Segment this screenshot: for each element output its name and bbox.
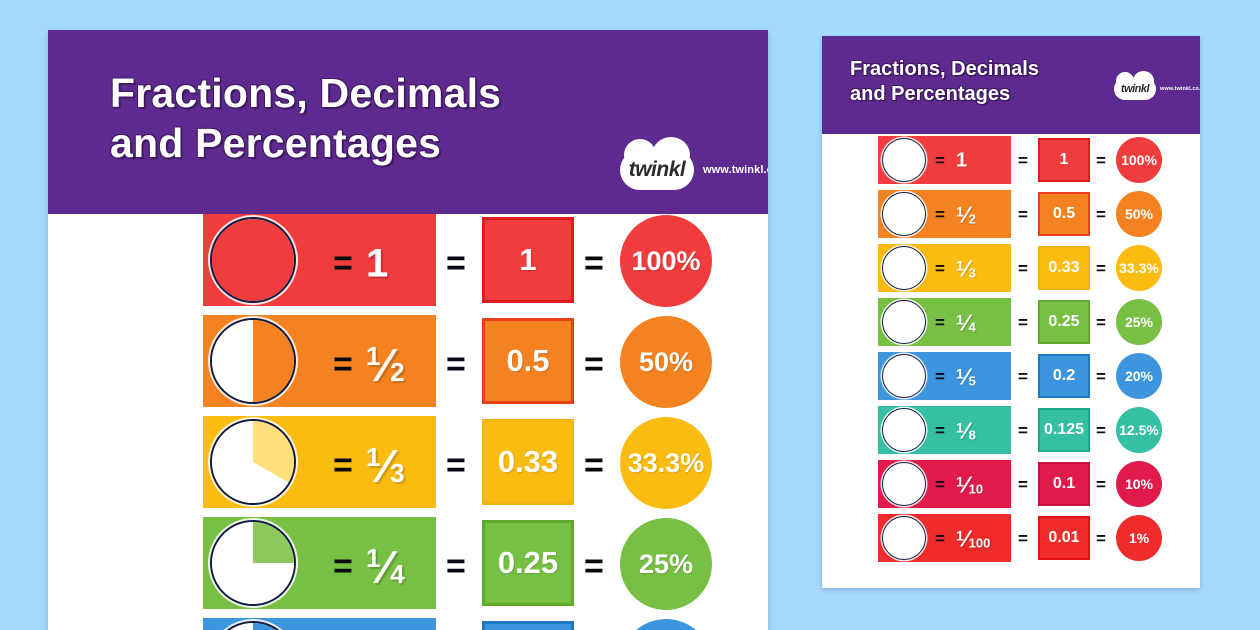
fraction-value: 1⁄4 <box>366 540 405 594</box>
equals-sign: = <box>1018 367 1028 387</box>
equals-sign: = <box>935 205 945 225</box>
pie-chart-icon <box>882 246 926 290</box>
decimal-box: 0.2 <box>1038 354 1090 398</box>
fraction-value: 1⁄3 <box>956 256 976 283</box>
equals-sign: = <box>1018 529 1028 549</box>
fraction-denominator: 3 <box>969 266 976 281</box>
fraction-slash-icon: ⁄ <box>964 418 968 445</box>
equals-sign: = <box>584 245 604 284</box>
fraction-slash-icon: ⁄ <box>381 540 389 594</box>
pie-chart-icon <box>210 621 296 630</box>
pie-slice <box>212 623 294 630</box>
pie-chart-icon <box>210 520 296 606</box>
thumbnail-rows: =1=1=100%=1⁄2=0.5=50%=1⁄3=0.33=33.3%=1⁄4… <box>822 134 1200 588</box>
equals-sign: = <box>1096 367 1106 387</box>
fraction-numerator: 1 <box>366 442 380 473</box>
fraction-numerator: 1 <box>956 258 964 274</box>
fraction-value: 1⁄2 <box>366 338 405 392</box>
poster-header: Fractions, Decimals and Percentages twin… <box>48 30 768 214</box>
fraction-value: 1 <box>366 242 388 287</box>
equals-sign: = <box>935 367 945 387</box>
thumbnail-table-row: =1⁄4=0.25=25% <box>822 296 1200 350</box>
decimal-box: 0.01 <box>1038 516 1090 560</box>
thumbnail-table-row: =1⁄3=0.33=33.3% <box>822 242 1200 296</box>
fraction-slash-icon: ⁄ <box>964 202 968 229</box>
percentage-circle: 1% <box>1116 515 1162 561</box>
equals-sign: = <box>446 548 466 587</box>
percentage-circle: 20% <box>620 619 712 630</box>
fraction-value: 1⁄100 <box>956 526 990 553</box>
fraction-numerator: 1 <box>956 474 964 490</box>
thumbnail-table-row: =1⁄10=0.1=10% <box>822 458 1200 512</box>
decimal-box: 0.1 <box>1038 462 1090 506</box>
cloud-icon: twinkl <box>620 150 694 190</box>
fraction-numerator: 1 <box>956 528 964 544</box>
table-row: =1⁄3=0.33=33.3% <box>48 416 768 516</box>
fraction-value: 1⁄10 <box>956 472 983 499</box>
fraction-denominator: 2 <box>969 212 976 227</box>
pie-bar <box>203 618 436 630</box>
percentage-circle: 50% <box>620 316 712 408</box>
percentage-circle: 100% <box>620 215 712 307</box>
equals-sign: = <box>1018 313 1028 333</box>
equals-sign: = <box>935 259 945 279</box>
main-poster: Fractions, Decimals and Percentages twin… <box>48 30 768 630</box>
pie-slice <box>212 421 294 503</box>
fraction-denominator: 2 <box>390 357 404 388</box>
thumbnail-table-row: =1=1=100% <box>822 134 1200 188</box>
fraction-value: 1⁄3 <box>366 439 405 493</box>
percentage-circle: 33.3% <box>1116 245 1162 291</box>
fraction-value: 1⁄5 <box>956 364 976 391</box>
equals-sign: = <box>584 548 604 587</box>
equals-sign: = <box>333 346 353 385</box>
thumbnail-table-row: =1⁄2=0.5=50% <box>822 188 1200 242</box>
twinkl-logo-thumbnail: twinkl www.twinkl.co.uk <box>1114 78 1200 100</box>
logo-brand-text: twinkl <box>1121 83 1149 95</box>
fraction-numerator: 1 <box>366 341 380 372</box>
fraction-slash-icon: ⁄ <box>964 526 968 553</box>
equals-sign: = <box>1018 151 1028 171</box>
equals-sign: = <box>333 548 353 587</box>
percentage-circle: 50% <box>1116 191 1162 237</box>
fraction-slash-icon: ⁄ <box>964 364 968 391</box>
fraction-numerator: 1 <box>366 543 380 574</box>
thumbnail-title: Fractions, Decimals and Percentages <box>850 57 1100 107</box>
percentage-circle: 33.3% <box>620 417 712 509</box>
pie-chart-icon <box>882 300 926 344</box>
fraction-denominator: 4 <box>390 559 404 590</box>
percentage-circle: 25% <box>1116 299 1162 345</box>
fraction-value: 1⁄4 <box>956 310 976 337</box>
poster-rows: =1=1=100%=1⁄2=0.5=50%=1⁄3=0.33=33.3%=1⁄4… <box>48 214 768 630</box>
equals-sign: = <box>935 421 945 441</box>
logo-url-text: www.twinkl.co.uk <box>703 164 768 176</box>
table-row: =1⁄2=0.5=50% <box>48 315 768 415</box>
logo-brand-text: twinkl <box>629 158 686 182</box>
percentage-circle: 100% <box>1116 137 1162 183</box>
pie-chart-icon <box>210 419 296 505</box>
twinkl-logo: twinkl www.twinkl.co.uk <box>620 150 768 190</box>
thumbnail-header: Fractions, Decimals and Percentages twin… <box>822 36 1200 134</box>
decimal-box: 0.33 <box>482 419 574 505</box>
table-row: =1⁄4=0.25=25% <box>48 517 768 617</box>
table-row: =1⁄5=0.2=20% <box>48 618 768 630</box>
screenshot-canvas: Fractions, Decimals and Percentages twin… <box>0 0 1260 630</box>
percentage-circle: 12.5% <box>1116 407 1162 453</box>
equals-sign: = <box>935 151 945 171</box>
equals-sign: = <box>1018 475 1028 495</box>
decimal-box: 0.25 <box>482 520 574 606</box>
fraction-denominator: 100 <box>969 536 991 551</box>
equals-sign: = <box>333 447 353 486</box>
fraction-denominator: 10 <box>969 482 983 497</box>
equals-sign: = <box>446 447 466 486</box>
equals-sign: = <box>935 313 945 333</box>
table-row: =1=1=100% <box>48 214 768 314</box>
equals-sign: = <box>935 475 945 495</box>
fraction-value: 1 <box>956 150 967 173</box>
pie-chart-icon <box>210 217 296 303</box>
pie-chart-icon <box>882 408 926 452</box>
equals-sign: = <box>584 447 604 486</box>
pie-slice <box>212 219 294 301</box>
equals-sign: = <box>1096 529 1106 549</box>
fraction-denominator: 4 <box>969 320 976 335</box>
fraction-denominator: 3 <box>390 458 404 489</box>
equals-sign: = <box>446 245 466 284</box>
equals-sign: = <box>935 529 945 549</box>
fraction-slash-icon: ⁄ <box>964 310 968 337</box>
fraction-numerator: 1 <box>956 366 964 382</box>
equals-sign: = <box>584 346 604 385</box>
equals-sign: = <box>1096 421 1106 441</box>
equals-sign: = <box>1018 421 1028 441</box>
pie-chart-icon <box>882 462 926 506</box>
percentage-circle: 20% <box>1116 353 1162 399</box>
logo-url-text: www.twinkl.co.uk <box>1160 86 1200 92</box>
decimal-box: 1 <box>1038 138 1090 182</box>
equals-sign: = <box>1096 205 1106 225</box>
fraction-value: 1⁄2 <box>956 202 976 229</box>
equals-sign: = <box>1018 259 1028 279</box>
thumbnail-poster[interactable]: Fractions, Decimals and Percentages twin… <box>822 36 1200 588</box>
thumbnail-table-row: =1⁄8=0.125=12.5% <box>822 404 1200 458</box>
equals-sign: = <box>446 346 466 385</box>
fraction-slash-icon: ⁄ <box>964 256 968 283</box>
fraction-denominator: 5 <box>969 374 976 389</box>
pie-chart-icon <box>210 318 296 404</box>
pie-chart-icon <box>882 192 926 236</box>
decimal-box: 0.5 <box>1038 192 1090 236</box>
percentage-circle: 10% <box>1116 461 1162 507</box>
thumbnail-table-row: =1⁄5=0.2=20% <box>822 350 1200 404</box>
equals-sign: = <box>1018 205 1028 225</box>
pie-chart-icon <box>882 516 926 560</box>
pie-chart-icon <box>882 138 926 182</box>
fraction-value: 1⁄8 <box>956 418 976 445</box>
fraction-numerator: 1 <box>956 420 964 436</box>
fraction-denominator: 8 <box>969 428 976 443</box>
thumbnail-table-row: =1⁄100=0.01=1% <box>822 512 1200 566</box>
page-title: Fractions, Decimals and Percentages <box>110 68 580 169</box>
pie-bar <box>203 214 436 306</box>
pie-slice <box>212 522 294 604</box>
decimal-box: 0.33 <box>1038 246 1090 290</box>
equals-sign: = <box>1096 475 1106 495</box>
decimal-box: 0.5 <box>482 318 574 404</box>
percentage-circle: 25% <box>620 518 712 610</box>
pie-chart-icon <box>882 354 926 398</box>
decimal-box: 0.125 <box>1038 408 1090 452</box>
fraction-numerator: 1 <box>956 204 964 220</box>
fraction-slash-icon: ⁄ <box>381 439 389 493</box>
cloud-icon: twinkl <box>1114 78 1156 100</box>
fraction-numerator: 1 <box>956 312 964 328</box>
decimal-box: 0.2 <box>482 621 574 630</box>
decimal-box: 0.25 <box>1038 300 1090 344</box>
pie-slice <box>212 320 294 402</box>
decimal-box: 1 <box>482 217 574 303</box>
fraction-slash-icon: ⁄ <box>381 338 389 392</box>
equals-sign: = <box>333 245 353 284</box>
equals-sign: = <box>1096 313 1106 333</box>
equals-sign: = <box>1096 151 1106 171</box>
equals-sign: = <box>1096 259 1106 279</box>
fraction-slash-icon: ⁄ <box>964 472 968 499</box>
